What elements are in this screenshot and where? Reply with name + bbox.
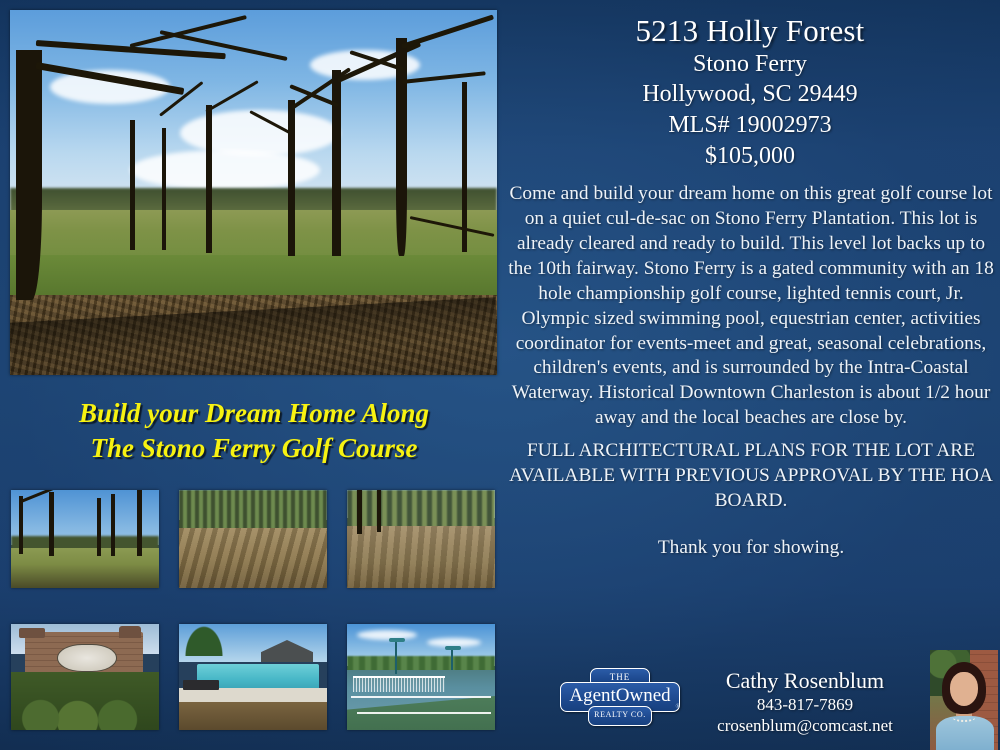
thumbnail-cleared-lot-b[interactable] [347, 490, 495, 588]
court-line [351, 696, 491, 698]
wooded-treeline [347, 490, 495, 528]
tree-trunk [288, 100, 295, 256]
tree-trunk [130, 120, 135, 250]
pearl-necklace [952, 712, 976, 722]
agent-email[interactable]: crosenblum@comcast.net [690, 715, 920, 736]
mls-number: MLS# 19002973 [505, 110, 995, 141]
light-pole [395, 640, 397, 674]
listing-description: Come and build your dream home on this g… [505, 182, 997, 561]
tree-trunk [137, 490, 142, 556]
tree-trunk [206, 105, 212, 253]
thumbnail-cleared-lot-a[interactable] [179, 490, 327, 588]
cleared-ground [347, 526, 495, 588]
wooded-treeline [179, 490, 327, 530]
landscaping-hedges [11, 672, 159, 730]
hero-property-photo [10, 10, 497, 375]
brick-pillar-cap [19, 628, 45, 638]
cloud [357, 630, 417, 640]
registered-trademark-icon: ® [675, 704, 680, 710]
tree-trunk [357, 490, 362, 534]
listing-headline: 5213 Holly Forest Stono Ferry Hollywood,… [505, 14, 995, 172]
tree-trunk [162, 128, 166, 250]
listing-price: $105,000 [505, 141, 995, 172]
description-paragraph: Come and build your dream home on this g… [505, 182, 997, 431]
subdivision-name: Stono Ferry [505, 49, 995, 80]
thumbnail-tennis-courts[interactable] [347, 624, 495, 730]
court-line [357, 712, 491, 714]
agent-phone[interactable]: 843-817-7869 [690, 694, 920, 715]
tree-trunk [97, 498, 101, 556]
tennis-net [353, 676, 445, 692]
lounge-chairs [183, 680, 219, 690]
tagline-line-2: The Stono Ferry Golf Course [14, 431, 494, 466]
tree-trunk [332, 70, 341, 256]
agent-face [950, 672, 978, 706]
light-pole [451, 648, 453, 670]
court-light [389, 638, 405, 642]
tree-trunk [19, 496, 23, 554]
city-state-zip: Hollywood, SC 29449 [505, 79, 995, 110]
agentowned-realty-logo: THE AgentOwned REALTY CO. ® [560, 668, 678, 730]
tagline: Build your Dream Home Along The Stono Fe… [14, 396, 494, 465]
palm-tree [185, 626, 223, 656]
tagline-line-1: Build your Dream Home Along [14, 396, 494, 431]
thumbnail-golf-fairway[interactable] [11, 490, 159, 588]
agent-contact-block: Cathy Rosenblum 843-817-7869 crosenblum@… [690, 668, 920, 736]
street-address: 5213 Holly Forest [505, 14, 995, 49]
thumbnail-entrance-sign[interactable] [11, 624, 159, 730]
agent-name: Cathy Rosenblum [690, 668, 920, 694]
oak-trunk [16, 50, 42, 300]
agent-portrait-photo [930, 650, 998, 750]
real-estate-flyer: Build your Dream Home Along The Stono Fe… [0, 0, 1000, 750]
cleared-ground [179, 528, 327, 588]
landscape-bed [179, 702, 327, 730]
architectural-plans-note: FULL ARCHITECTURAL PLANS FOR THE LOT ARE… [505, 439, 997, 514]
court-light [445, 646, 461, 650]
tree-trunk [49, 492, 54, 556]
brick-pillar-cap [119, 626, 141, 638]
thank-you-note: Thank you for showing. [505, 536, 997, 561]
tree-trunk [377, 490, 381, 532]
logo-bottom-band: REALTY CO. [588, 706, 652, 726]
thumbnail-swimming-pool[interactable] [179, 624, 327, 730]
tree-trunk [111, 494, 115, 556]
stono-ferry-sign-plaque [57, 644, 117, 672]
